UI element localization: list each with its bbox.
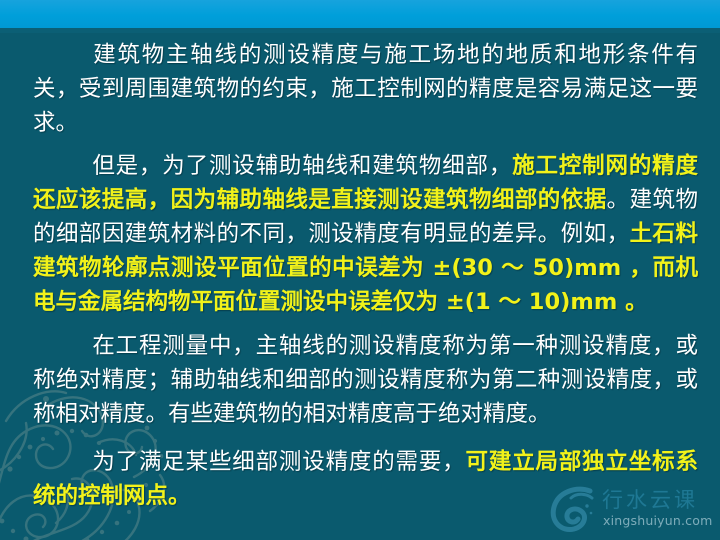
- watermark-domain: xingshuiyun.com: [603, 513, 712, 528]
- presentation-slide: 建筑工程测量 第 11 章 施工测量的基本工作 建筑物主轴线的测设精度与施工场地…: [0, 0, 720, 540]
- text-run: 建筑物主轴线的测设精度与施工场地的地质和地形条件有关，受到周围建筑物的约束，施工…: [33, 42, 698, 136]
- header-underline: [0, 28, 720, 33]
- body-paragraph: 建筑物主轴线的测设精度与施工场地的地质和地形条件有关，受到周围建筑物的约束，施工…: [0, 38, 720, 140]
- body-paragraph: 在工程测量中，主轴线的测设精度称为第一种测设精度，或称绝对精度；辅助轴线和细部的…: [0, 329, 720, 431]
- text-run: 为了满足某些细部测设精度的需要，: [92, 449, 466, 475]
- body-paragraph: 但是，为了测设辅助轴线和建筑物细部，施工控制网的精度还应该提高，因为辅助轴线是直…: [0, 149, 720, 319]
- text-run: 但是，为了测设辅助轴线和建筑物细部，: [92, 153, 513, 179]
- slide-body: 建筑物主轴线的测设精度与施工场地的地质和地形条件有关，受到周围建筑物的约束，施工…: [0, 38, 720, 513]
- slide-header-bar: [0, 0, 720, 28]
- body-paragraph: 为了满足某些细部测设精度的需要，可建立局部独立坐标系统的控制网点。: [0, 445, 720, 513]
- text-run: 在工程测量中，主轴线的测设精度称为第一种测设精度，或称绝对精度；辅助轴线和细部的…: [33, 333, 698, 427]
